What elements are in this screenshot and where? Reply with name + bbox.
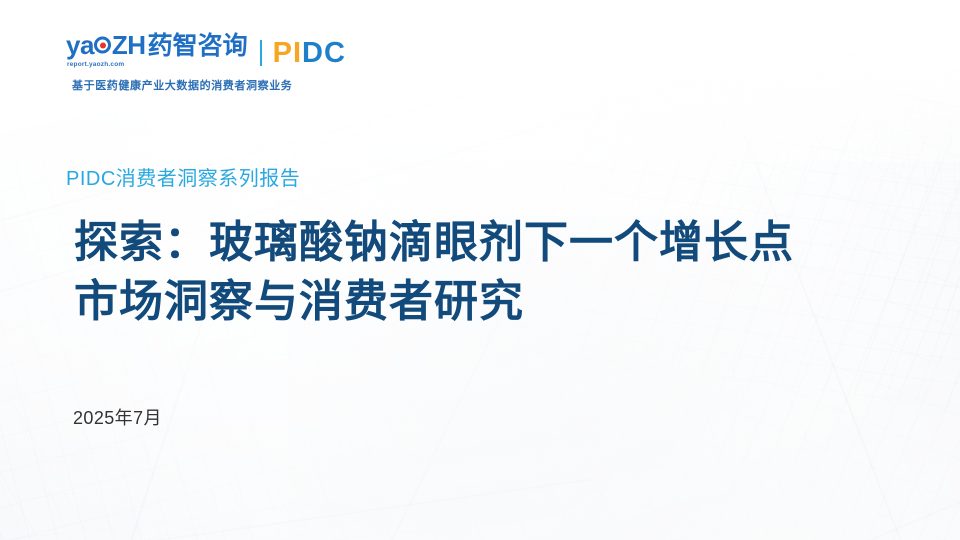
report-series-label: PIDC消费者洞察系列报告 (66, 162, 300, 191)
logo-tagline: 基于医药健康产业大数据的消费者洞察业务 (72, 77, 346, 93)
yaozh-wordmark-chinese: 药智咨询 (148, 34, 248, 59)
slide-content: ya ZH 药智咨询 report.yaozh.com P I DC 基于医药健… (0, 0, 960, 540)
yaozh-wordmark-zh: ZH (112, 32, 146, 58)
yaozh-wordmark-ya: ya (66, 32, 94, 58)
logo-separator (260, 40, 262, 66)
page-title-line-2: 市场洞察与消费者研究 (74, 273, 794, 332)
pidc-logo: P I DC (273, 39, 346, 68)
title-slide: ya ZH 药智咨询 report.yaozh.com P I DC 基于医药健… (0, 0, 960, 540)
logo-row: ya ZH 药智咨询 report.yaozh.com P I DC (66, 34, 346, 68)
yaozh-logo: ya ZH 药智咨询 report.yaozh.com (66, 32, 248, 68)
pidc-letter-p: P (273, 39, 293, 68)
logo-url: report.yaozh.com (67, 61, 248, 68)
publication-date: 2025年7月 (73, 404, 162, 430)
brand-logo: ya ZH 药智咨询 report.yaozh.com P I DC 基于医药健… (66, 34, 346, 93)
yaozh-wordmark: ya ZH 药智咨询 (66, 32, 248, 59)
pidc-letters-dc: DC (302, 39, 346, 68)
page-title-line-1: 探索：玻璃酸钠滴眼剂下一个增长点 (74, 214, 794, 273)
pidc-letter-i: I (293, 39, 302, 68)
page-title: 探索：玻璃酸钠滴眼剂下一个增长点 市场洞察与消费者研究 (74, 214, 794, 331)
yaozh-o-dot-icon (94, 37, 111, 54)
